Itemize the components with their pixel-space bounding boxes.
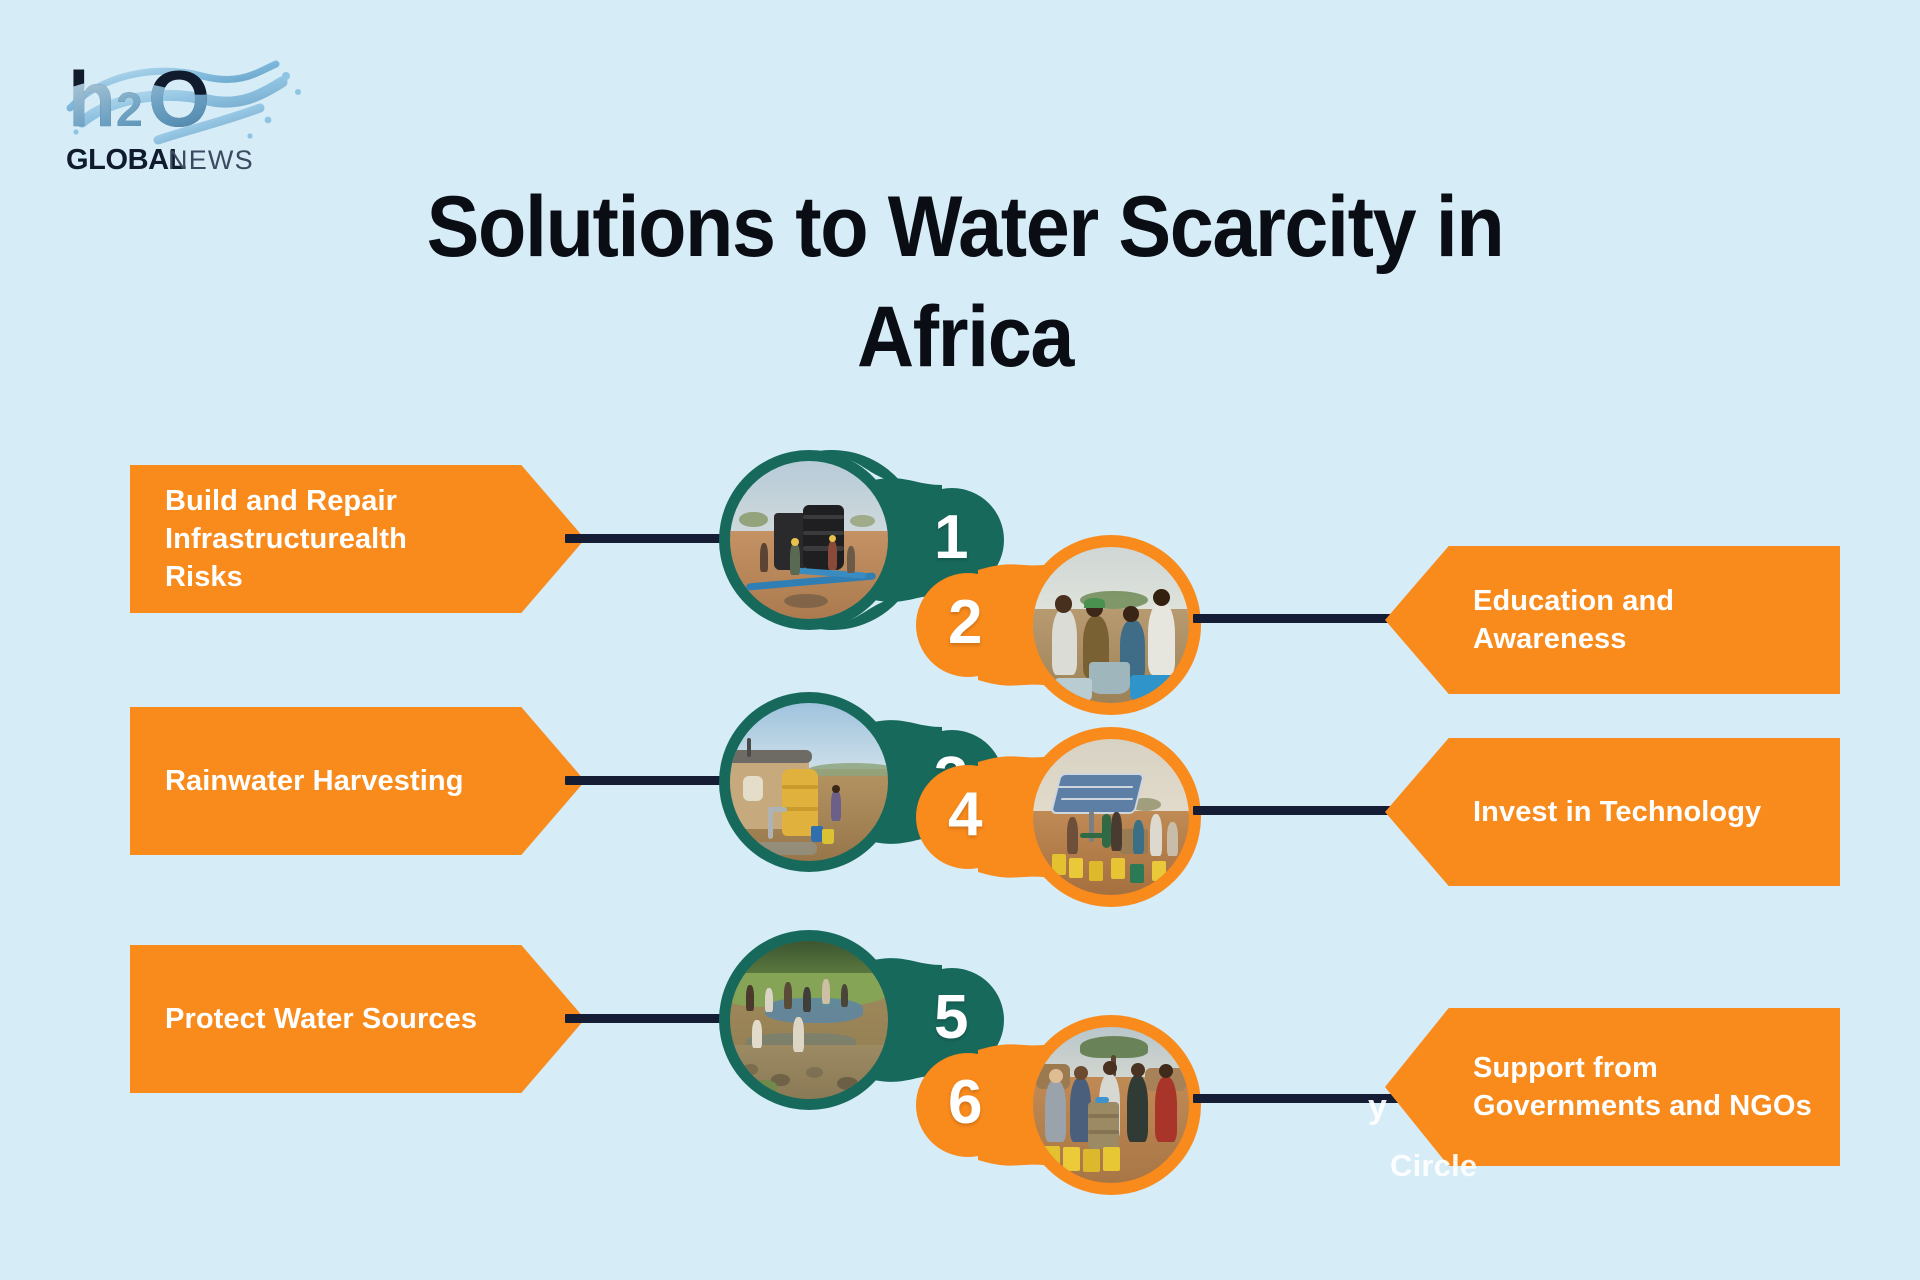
step-number-4: 4 — [948, 784, 982, 846]
step-node-2[interactable]: 2 — [908, 525, 1208, 710]
photo-ngo-team-water-delivery — [1027, 1021, 1195, 1189]
page-title: Solutions to Water Scarcity in Africa — [353, 172, 1577, 392]
water-splash-icon: h 2 O h 2 O — [62, 52, 312, 187]
brand-logo: h 2 O h 2 O — [62, 52, 312, 187]
logo-wordmark-light: NEWS — [168, 145, 254, 175]
step-label-2-text: Education and Awareness — [1473, 582, 1812, 659]
page-title-line-1: Solutions to Water Scarcity in — [353, 172, 1577, 282]
step-number-2: 2 — [948, 592, 982, 654]
step-node-6[interactable]: 6 — [908, 1005, 1208, 1190]
step-label-4[interactable]: Invest in Technology — [1385, 738, 1840, 886]
step-label-2[interactable]: Education and Awareness — [1385, 546, 1840, 694]
photo-community-handwashing — [1027, 541, 1195, 709]
step-label-6-text: Support from Governments and NGOs — [1473, 1049, 1812, 1126]
step-row-6: 6 — [0, 918, 1920, 1128]
connector-line-2 — [1193, 614, 1403, 623]
step-label-4-text: Invest in Technology — [1473, 793, 1761, 831]
artifact-partial-glyph: y — [1368, 1088, 1387, 1127]
infographic-canvas: h 2 O h 2 O — [0, 0, 1920, 1280]
artifact-stray-text: Circle — [1390, 1148, 1477, 1184]
connector-line-4 — [1193, 806, 1403, 815]
step-label-6[interactable]: Support from Governments and NGOs — [1385, 1008, 1840, 1166]
step-row-4: 4 — [0, 722, 1920, 932]
step-node-4[interactable]: 4 — [908, 717, 1208, 902]
photo-solar-powered-pump — [1027, 733, 1195, 901]
step-number-6: 6 — [948, 1072, 982, 1134]
page-title-line-2: Africa — [353, 282, 1577, 392]
